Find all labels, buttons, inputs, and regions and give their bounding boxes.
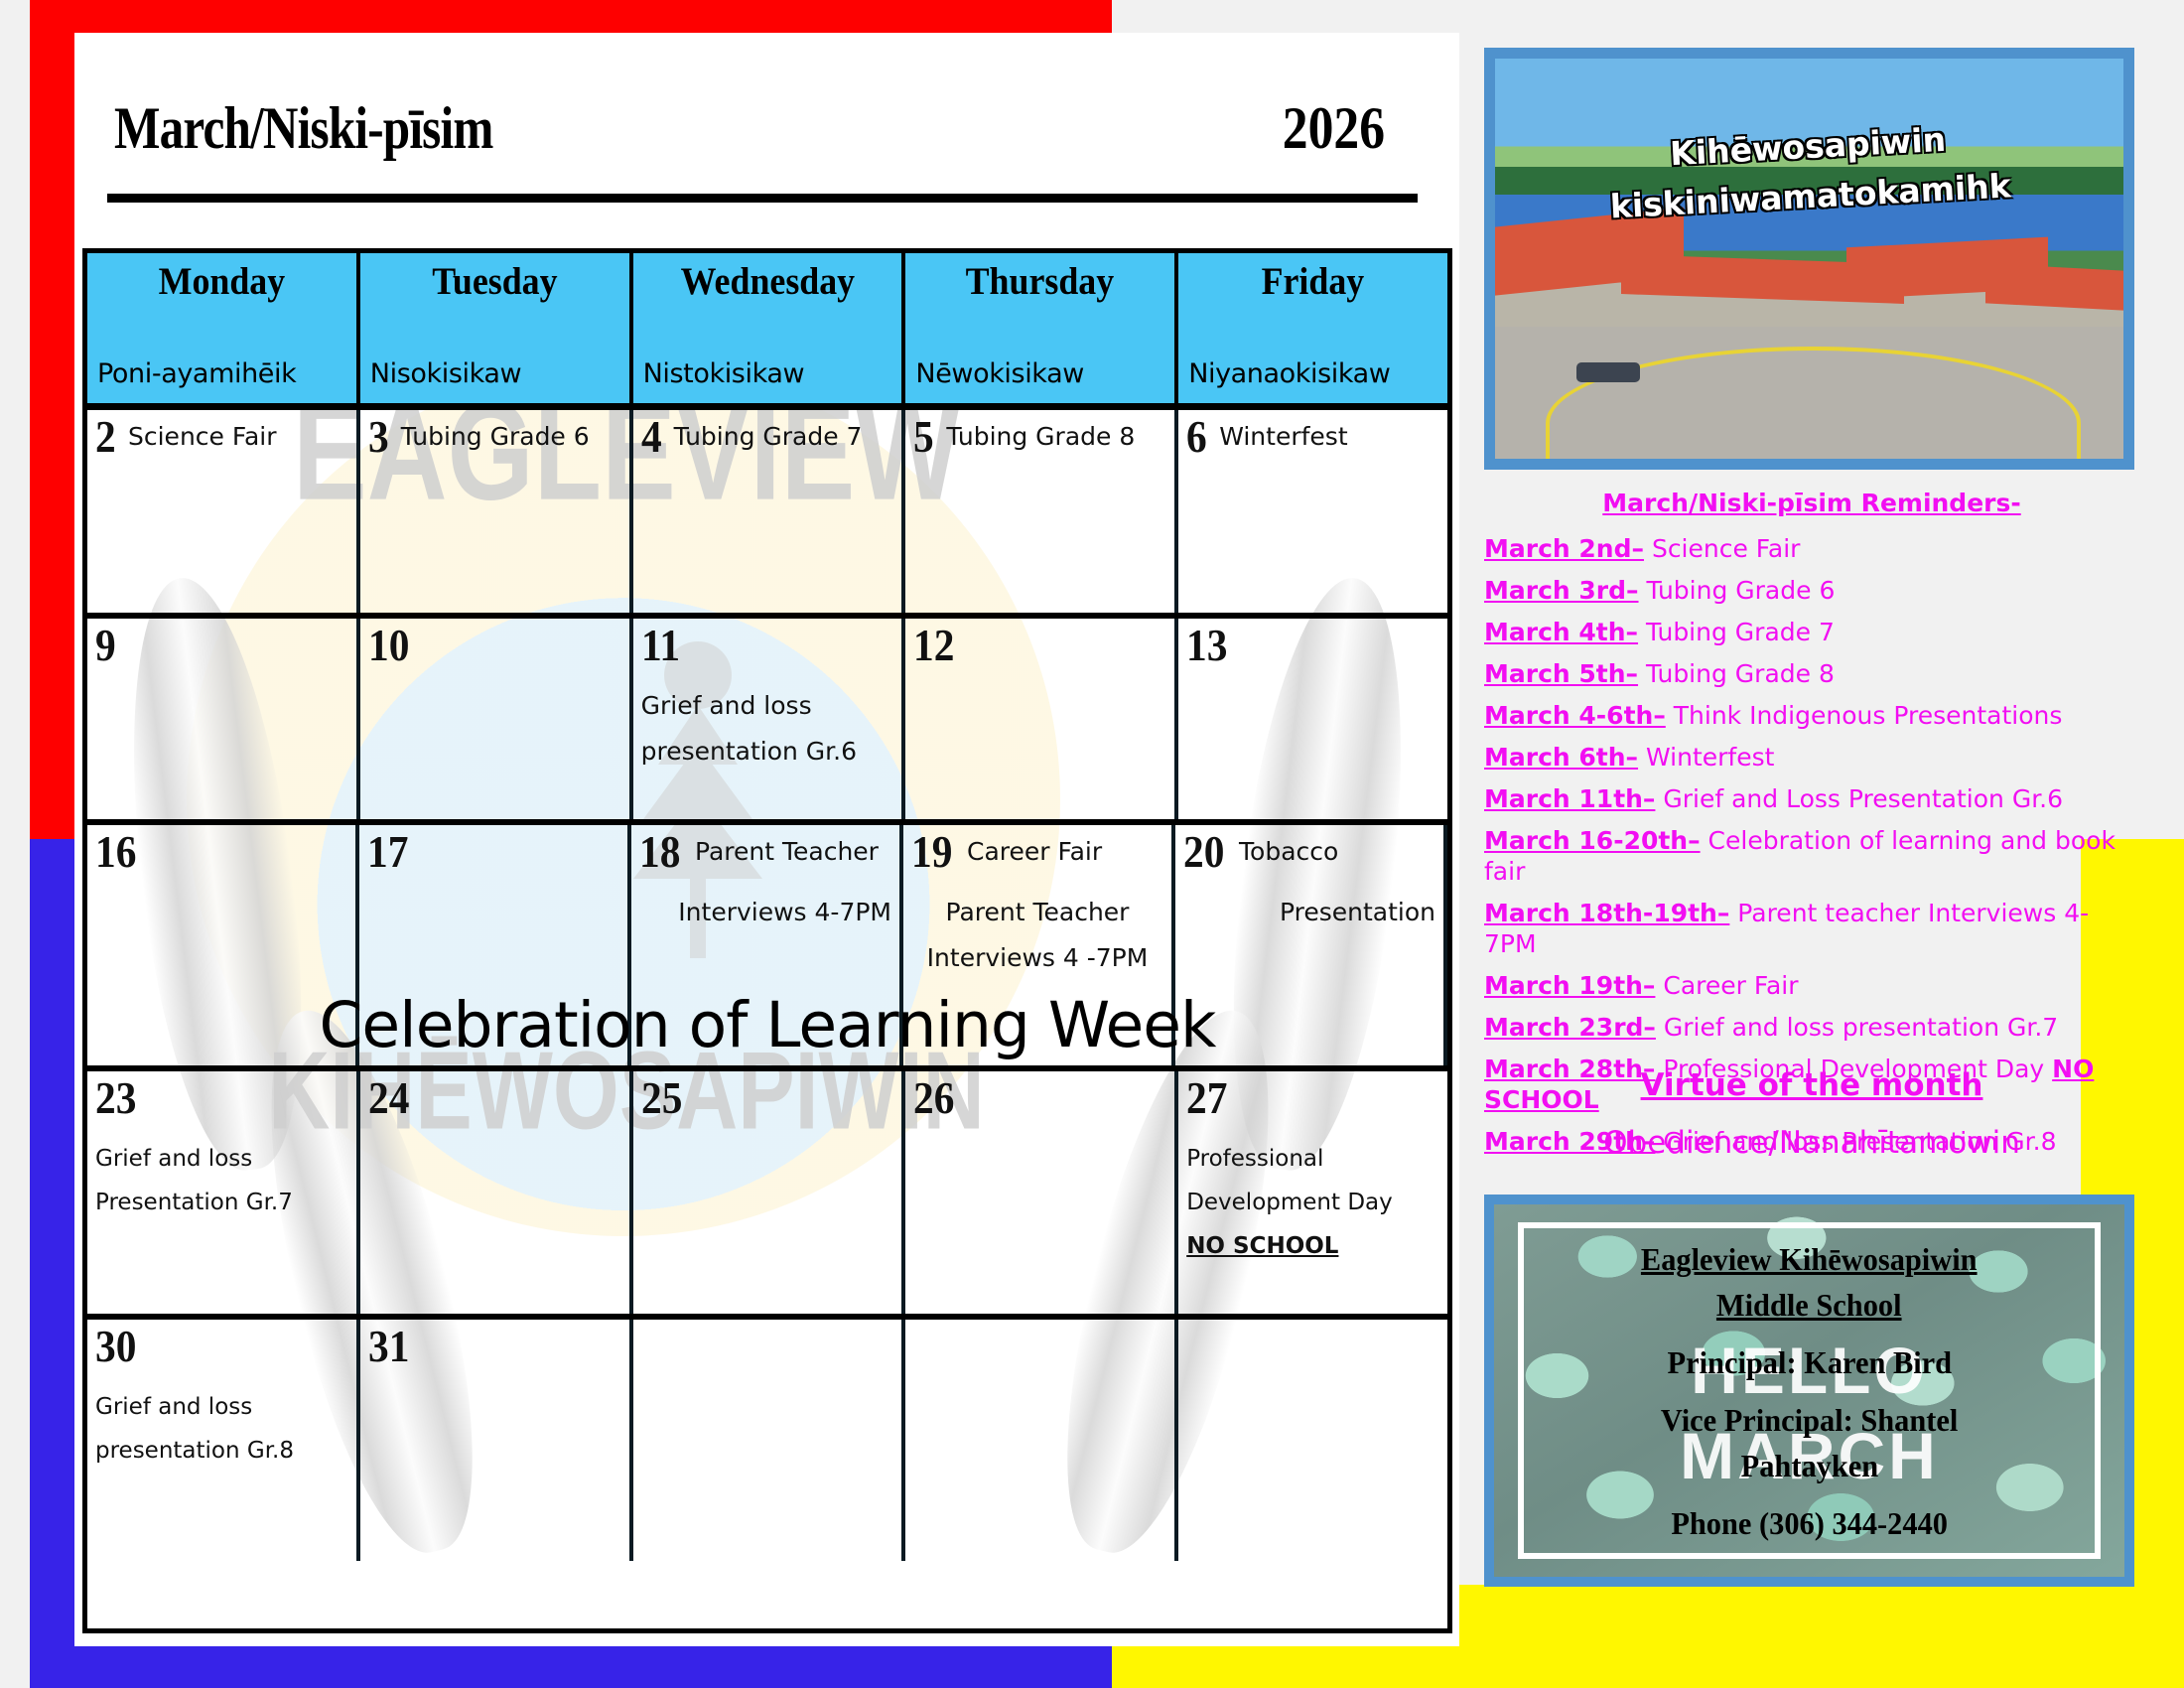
day-event: Parent Teacher: [695, 837, 879, 866]
celebration-week-banner: Celebration of Learning Week: [87, 989, 1447, 1061]
day-event: Development Day: [1186, 1183, 1439, 1222]
reminder-item: March 5th– Tubing Grade 8: [1484, 658, 2139, 689]
title-underline: [107, 194, 1418, 203]
weekday-label-en: Monday: [107, 259, 337, 304]
phone-line: Phone (306) 344-2440: [1671, 1500, 1948, 1546]
day-event: Tobacco: [1239, 837, 1338, 866]
day-event: Grief and loss: [641, 686, 894, 726]
day-cell[interactable]: 3Tubing Grade 6: [360, 410, 633, 613]
reminder-date: March 2nd–: [1484, 534, 1644, 563]
week-row: 30 Grief and loss presentation Gr.8 31: [87, 1320, 1447, 1561]
weekday-label-cree: Nisokisikaw: [370, 358, 619, 389]
day-number: 24: [368, 1075, 409, 1121]
school-info-card: HELLOMARCH Eagleview Kihēwosapiwin Middl…: [1484, 1195, 2134, 1587]
virtue-value: Obedience/Nanahītamowin: [1484, 1125, 2139, 1161]
day-cell[interactable]: 26: [905, 1071, 1178, 1314]
school-name-line2: Middle School: [1716, 1282, 1902, 1328]
day-number: 27: [1186, 1075, 1227, 1121]
reminder-date: March 11th–: [1484, 784, 1655, 813]
no-school-label: NO SCHOOL: [1186, 1226, 1439, 1266]
day-number: 16: [95, 829, 136, 875]
reminder-date: March 4-6th–: [1484, 701, 1666, 730]
reminder-text: Career Fair: [1655, 971, 1798, 1000]
day-cell[interactable]: 31: [360, 1320, 633, 1561]
reminder-date: March 3rd–: [1484, 576, 1639, 605]
week-row: 9 10 11 Grief and loss presentation Gr.6…: [87, 619, 1447, 825]
reminder-item: March 4-6th– Think Indigenous Presentati…: [1484, 700, 2139, 731]
day-number: 26: [913, 1075, 954, 1121]
day-number: 25: [641, 1075, 682, 1121]
day-event: Grief and loss: [95, 1139, 348, 1179]
day-cell[interactable]: 13: [1178, 619, 1447, 819]
principal-line: Principal: Karen Bird: [1667, 1339, 1952, 1385]
reminders-list: March 2nd– Science FairMarch 3rd– Tubing…: [1484, 533, 2139, 1157]
reminder-text: Tubing Grade 8: [1638, 659, 1835, 688]
day-cell[interactable]: 5Tubing Grade 8: [905, 410, 1178, 613]
weekday-label-en: Wednesday: [653, 259, 883, 304]
day-cell[interactable]: [905, 1320, 1178, 1561]
virtue-heading: Virtue of the month: [1484, 1067, 2139, 1103]
day-number: 17: [367, 829, 408, 875]
day-cell[interactable]: 23 Grief and loss Presentation Gr.7: [87, 1071, 360, 1314]
day-number: 13: [1186, 623, 1227, 668]
day-number: 11: [641, 623, 680, 668]
day-event: presentation Gr.8: [95, 1431, 348, 1471]
reminder-text: Grief and Loss Presentation Gr.6: [1655, 784, 2063, 813]
car-shape: [1576, 362, 1639, 382]
day-number: 31: [368, 1324, 409, 1369]
day-cell[interactable]: 2Science Fair: [87, 410, 360, 613]
reminder-date: March 5th–: [1484, 659, 1638, 688]
day-cell[interactable]: 27 Professional Development Day NO SCHOO…: [1178, 1071, 1447, 1314]
day-number: 30: [95, 1324, 136, 1369]
reminder-text: Science Fair: [1644, 534, 1800, 563]
weekday-header-wednesday: Wednesday Nistokisikaw: [633, 253, 906, 403]
day-number: 18: [639, 829, 680, 875]
day-number: 4: [641, 414, 662, 460]
day-cell[interactable]: [633, 1320, 906, 1561]
day-number: 23: [95, 1075, 136, 1121]
weekday-header-tuesday: Tuesday Nisokisikaw: [360, 253, 633, 403]
day-event: Winterfest: [1219, 422, 1347, 451]
day-cell[interactable]: [1178, 1320, 1447, 1561]
reminder-item: March 11th– Grief and Loss Presentation …: [1484, 783, 2139, 814]
vice-principal-line: Vice Principal: Shantel: [1661, 1397, 1958, 1443]
day-event: Presentation: [1183, 893, 1435, 932]
day-event: presentation Gr.6: [641, 732, 894, 772]
calendar-title-row: March/Niski-pīsim 2026: [104, 94, 1425, 189]
day-cell[interactable]: 6Winterfest: [1178, 410, 1447, 613]
reminder-item: March 2nd– Science Fair: [1484, 533, 2139, 564]
weekday-header-friday: Friday Niyanaokisikaw: [1178, 253, 1447, 403]
weekday-label-cree: Niyanaokisikaw: [1188, 358, 1437, 389]
reminder-text: Think Indigenous Presentations: [1666, 701, 2063, 730]
weekday-label-cree: Nistokisikaw: [643, 358, 892, 389]
day-number: 5: [913, 414, 934, 460]
weekday-label-en: Friday: [1198, 259, 1428, 304]
week-row: 23 Grief and loss Presentation Gr.7 24 2…: [87, 1071, 1447, 1320]
reminder-date: March 16-20th–: [1484, 826, 1701, 855]
reminder-text: Grief and loss presentation Gr.7: [1656, 1013, 2058, 1042]
day-event: Presentation Gr.7: [95, 1183, 348, 1222]
reminder-item: March 4th– Tubing Grade 7: [1484, 617, 2139, 647]
weekday-header-row: Monday Poni-ayamihēik Tuesday Nisokisika…: [87, 253, 1447, 410]
reminder-date: March 6th–: [1484, 743, 1638, 772]
day-event: Tubing Grade 6: [401, 422, 590, 451]
weekday-label-en: Tuesday: [380, 259, 610, 304]
reminder-date: March 19th–: [1484, 971, 1655, 1000]
day-number: 12: [913, 623, 954, 668]
reminder-item: March 6th– Winterfest: [1484, 742, 2139, 773]
day-cell[interactable]: 9: [87, 619, 360, 819]
reminder-item: March 23rd– Grief and loss presentation …: [1484, 1012, 2139, 1043]
day-number: 10: [368, 623, 409, 668]
reminder-text: Winterfest: [1638, 743, 1774, 772]
day-cell[interactable]: 11 Grief and loss presentation Gr.6: [633, 619, 906, 819]
reminders-title: March/Niski-pīsim Reminders-: [1484, 489, 2139, 517]
page-title: March/Niski-pīsim: [114, 94, 493, 163]
weekday-label-en: Thursday: [925, 259, 1155, 304]
day-cell[interactable]: 30 Grief and loss presentation Gr.8: [87, 1320, 360, 1561]
day-cell[interactable]: 25: [633, 1071, 906, 1314]
day-number: 9: [95, 623, 116, 668]
day-number: 2: [95, 414, 116, 460]
reminder-item: March 16-20th– Celebration of learning a…: [1484, 825, 2139, 887]
day-event: Interviews 4 -7PM: [911, 938, 1163, 978]
weekday-label-cree: Nēwokisikaw: [915, 358, 1164, 389]
week-row: 16 17 18Parent Teacher Interviews 4-7PM …: [87, 825, 1447, 1071]
year-label: 2026: [1283, 94, 1385, 163]
calendar-page: March/Niski-pīsim 2026 EAGLEVIEW KIHĒWOS…: [0, 0, 2184, 1688]
day-cell[interactable]: 10: [360, 619, 633, 819]
reminder-item: March 18th-19th– Parent teacher Intervie…: [1484, 898, 2139, 959]
virtue-panel: Virtue of the month Obedience/Nanahītamo…: [1484, 1067, 2139, 1161]
day-number: 19: [911, 829, 952, 875]
day-event: Parent Teacher: [911, 893, 1163, 932]
day-cell[interactable]: 24: [360, 1071, 633, 1314]
reminder-date: March 23rd–: [1484, 1013, 1656, 1042]
day-event: Professional: [1186, 1139, 1439, 1179]
reminder-date: March 18th-19th–: [1484, 899, 1729, 927]
weekday-label-cree: Poni-ayamihēik: [97, 358, 346, 389]
reminders-panel: March/Niski-pīsim Reminders- March 2nd– …: [1484, 489, 2139, 1168]
week-row: 2Science Fair 3Tubing Grade 6 4Tubing Gr…: [87, 410, 1447, 619]
roof-shape: [1985, 263, 2123, 311]
day-event: Tubing Grade 8: [946, 422, 1135, 451]
info-card-frame: Eagleview Kihēwosapiwin Middle School Pr…: [1518, 1222, 2101, 1559]
reminder-item: March 3rd– Tubing Grade 6: [1484, 575, 2139, 606]
day-event: Grief and loss: [95, 1387, 348, 1427]
school-photo: Kihēwosapiwin kiskiniwamatokamihk: [1484, 48, 2134, 470]
reminder-date: March 4th–: [1484, 618, 1638, 646]
day-event: Career Fair: [967, 837, 1102, 866]
day-number: 20: [1183, 829, 1224, 875]
day-event: Tubing Grade 7: [674, 422, 863, 451]
clover-background: HELLOMARCH Eagleview Kihēwosapiwin Middl…: [1494, 1204, 2124, 1577]
reminder-item: March 19th– Career Fair: [1484, 970, 2139, 1001]
school-photo-image: Kihēwosapiwin kiskiniwamatokamihk: [1495, 59, 2123, 459]
calendar-grid: Monday Poni-ayamihēik Tuesday Nisokisika…: [82, 248, 1452, 1633]
day-cell[interactable]: 4Tubing Grade 7: [633, 410, 906, 613]
reminder-text: Tubing Grade 7: [1638, 618, 1835, 646]
day-number: 3: [368, 414, 389, 460]
weekday-header-monday: Monday Poni-ayamihēik: [87, 253, 360, 403]
photo-caption: Kihēwosapiwin kiskiniwamatokamihk: [1495, 106, 2123, 238]
day-event: Interviews 4-7PM: [639, 893, 891, 932]
day-cell[interactable]: 12: [905, 619, 1178, 819]
day-event: Science Fair: [128, 422, 277, 451]
reminder-text: Tubing Grade 6: [1639, 576, 1836, 605]
vice-principal-line2: Pahtayken: [1740, 1443, 1878, 1488]
day-number: 6: [1186, 414, 1207, 460]
school-name-line1: Eagleview Kihēwosapiwin: [1641, 1236, 1978, 1282]
weekday-header-thursday: Thursday Nēwokisikaw: [905, 253, 1178, 403]
